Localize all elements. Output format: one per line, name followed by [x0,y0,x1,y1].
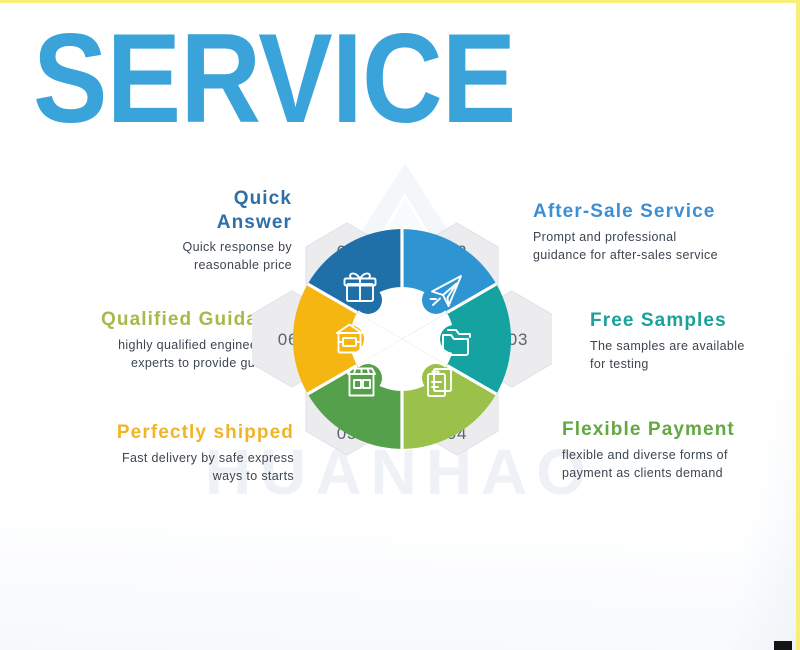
feature-heading-flexible-payment: Flexible Payment [562,418,798,442]
feature-body-after-sale-service: Prompt and professional guidance for aft… [533,228,791,264]
feature-block-free-samples: Free Samples The samples are available f… [590,309,796,373]
feature-heading-free-samples: Free Samples [590,309,796,333]
page-title: SERVICE [33,15,515,142]
feature-block-after-sale-service: After-Sale Service Prompt and profession… [533,200,791,264]
hexagon-puzzle-diagram: 01 02 03 04 05 06 [252,199,552,479]
feature-body-flexible-payment: flexible and diverse forms of payment as… [562,446,798,482]
sheet-shading-bottom [0,490,796,650]
feature-block-flexible-payment: Flexible Payment flexible and diverse fo… [562,418,798,482]
feature-body-free-samples: The samples are available for testing [590,337,796,373]
puzzle-ring-group [292,229,512,449]
slide-canvas: HUANHAO SERVICE Quick Answer Quick respo… [0,0,800,650]
scrollbar-corner-artifact [774,641,792,650]
feature-heading-after-sale-service: After-Sale Service [533,200,791,224]
